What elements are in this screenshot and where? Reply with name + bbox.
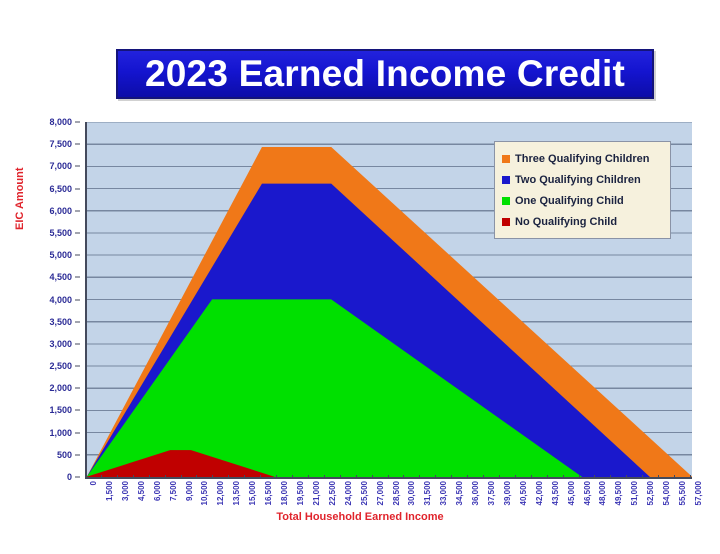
legend-swatch-no-child xyxy=(502,218,510,226)
x-tick-mark xyxy=(276,475,277,479)
x-tick-label: 9,000 xyxy=(185,481,194,501)
y-tick-mark xyxy=(75,299,80,300)
x-tick-mark xyxy=(388,475,389,479)
x-tick-mark xyxy=(133,475,134,479)
y-tick-label: 4,500 xyxy=(49,272,72,282)
x-tick-label: 10,500 xyxy=(200,481,209,505)
x-tick-mark xyxy=(674,475,675,479)
y-tick-label: 0 xyxy=(67,472,72,482)
x-tick-mark xyxy=(196,475,197,479)
x-tick-label: 34,500 xyxy=(455,481,464,505)
x-tick-mark xyxy=(451,475,452,479)
x-tick-mark xyxy=(563,475,564,479)
y-tick-mark xyxy=(75,432,80,433)
y-tick-mark xyxy=(75,477,80,478)
x-tick-label: 18,000 xyxy=(280,481,289,505)
x-tick-mark xyxy=(483,475,484,479)
x-tick-mark xyxy=(419,475,420,479)
x-tick-mark xyxy=(626,475,627,479)
legend-item[interactable]: Three Qualifying Children xyxy=(502,148,664,169)
y-tick-mark xyxy=(75,166,80,167)
y-tick-mark xyxy=(75,277,80,278)
legend-label: One Qualifying Child xyxy=(515,195,624,207)
x-tick-label: 12,000 xyxy=(216,481,225,505)
x-tick-mark xyxy=(435,475,436,479)
x-tick-mark xyxy=(579,475,580,479)
x-tick-mark xyxy=(85,475,86,479)
y-tick-mark xyxy=(75,454,80,455)
y-axis-ticks: 05001,0001,5002,0002,5003,0003,5004,0004… xyxy=(0,122,80,477)
x-tick-mark xyxy=(149,475,150,479)
y-tick-mark xyxy=(75,410,80,411)
x-tick-label: 36,000 xyxy=(471,481,480,505)
y-tick-label: 4,000 xyxy=(49,295,72,305)
x-tick-mark xyxy=(356,475,357,479)
y-tick-label: 2,500 xyxy=(49,361,72,371)
x-tick-label: 52,500 xyxy=(646,481,655,505)
legend-label: No Qualifying Child xyxy=(515,216,617,228)
x-tick-mark xyxy=(658,475,659,479)
y-tick-label: 2,000 xyxy=(49,383,72,393)
x-tick-label: 13,500 xyxy=(232,481,241,505)
x-tick-label: 16,500 xyxy=(264,481,273,505)
page-title: 2023 Earned Income Credit xyxy=(145,53,625,95)
x-tick-mark xyxy=(292,475,293,479)
x-tick-label: 7,500 xyxy=(169,481,178,501)
x-tick-label: 48,000 xyxy=(598,481,607,505)
x-tick-label: 24,000 xyxy=(344,481,353,505)
legend-label: Three Qualifying Children xyxy=(515,153,649,165)
chart-root: 2023 Earned Income Credit EIC Amount 050… xyxy=(0,0,720,554)
y-tick-label: 6,500 xyxy=(49,184,72,194)
chart-legend: Three Qualifying Children Two Qualifying… xyxy=(494,141,671,239)
x-tick-label: 51,000 xyxy=(630,481,639,505)
legend-item[interactable]: Two Qualifying Children xyxy=(502,169,664,190)
x-tick-mark xyxy=(610,475,611,479)
y-tick-mark xyxy=(75,122,80,123)
y-tick-label: 6,000 xyxy=(49,206,72,216)
y-tick-label: 3,000 xyxy=(49,339,72,349)
x-tick-label: 37,500 xyxy=(487,481,496,505)
y-tick-label: 5,000 xyxy=(49,250,72,260)
x-tick-label: 1,500 xyxy=(105,481,114,501)
x-tick-label: 4,500 xyxy=(137,481,146,501)
x-tick-label: 43,500 xyxy=(551,481,560,505)
legend-label: Two Qualifying Children xyxy=(515,174,641,186)
y-tick-label: 8,000 xyxy=(49,117,72,127)
x-tick-label: 42,000 xyxy=(535,481,544,505)
x-tick-mark xyxy=(594,475,595,479)
x-tick-mark xyxy=(531,475,532,479)
y-tick-label: 7,500 xyxy=(49,139,72,149)
x-tick-label: 39,000 xyxy=(503,481,512,505)
x-tick-mark xyxy=(101,475,102,479)
x-tick-label: 21,000 xyxy=(312,481,321,505)
y-tick-label: 3,500 xyxy=(49,317,72,327)
x-tick-mark xyxy=(467,475,468,479)
x-tick-label: 28,500 xyxy=(392,481,401,505)
x-tick-mark xyxy=(260,475,261,479)
y-tick-mark xyxy=(75,321,80,322)
x-tick-label: 27,000 xyxy=(376,481,385,505)
x-tick-mark xyxy=(117,475,118,479)
x-tick-mark xyxy=(212,475,213,479)
y-tick-mark xyxy=(75,210,80,211)
x-tick-label: 15,000 xyxy=(248,481,257,505)
x-tick-label: 54,000 xyxy=(662,481,671,505)
y-tick-label: 1,000 xyxy=(49,428,72,438)
legend-item[interactable]: No Qualifying Child xyxy=(502,211,664,232)
x-tick-label: 30,000 xyxy=(407,481,416,505)
x-tick-mark xyxy=(515,475,516,479)
y-tick-label: 1,500 xyxy=(49,405,72,415)
legend-swatch-three-children xyxy=(502,155,510,163)
y-tick-mark xyxy=(75,188,80,189)
x-tick-label: 40,500 xyxy=(519,481,528,505)
x-tick-label: 55,500 xyxy=(678,481,687,505)
x-tick-mark xyxy=(228,475,229,479)
y-tick-mark xyxy=(75,388,80,389)
y-tick-mark xyxy=(75,232,80,233)
x-tick-mark xyxy=(642,475,643,479)
y-tick-mark xyxy=(75,343,80,344)
x-tick-label: 19,500 xyxy=(296,481,305,505)
x-tick-mark xyxy=(499,475,500,479)
x-tick-label: 6,000 xyxy=(153,481,162,501)
x-tick-label: 49,500 xyxy=(614,481,623,505)
x-axis-title: Total Household Earned Income xyxy=(0,511,720,523)
x-tick-label: 25,500 xyxy=(360,481,369,505)
y-tick-label: 7,000 xyxy=(49,161,72,171)
legend-swatch-two-children xyxy=(502,176,510,184)
y-tick-label: 5,500 xyxy=(49,228,72,238)
x-tick-mark xyxy=(181,475,182,479)
x-tick-label: 3,000 xyxy=(121,481,130,501)
x-tick-mark xyxy=(340,475,341,479)
y-tick-mark xyxy=(75,366,80,367)
x-tick-mark xyxy=(308,475,309,479)
x-tick-label: 33,000 xyxy=(439,481,448,505)
x-tick-label: 46,500 xyxy=(583,481,592,505)
x-tick-mark xyxy=(165,475,166,479)
x-tick-mark xyxy=(403,475,404,479)
legend-swatch-one-child xyxy=(502,197,510,205)
x-tick-label: 22,500 xyxy=(328,481,337,505)
x-tick-mark xyxy=(690,475,691,479)
x-tick-label: 0 xyxy=(89,481,98,485)
x-tick-label: 45,000 xyxy=(567,481,576,505)
x-tick-label: 31,500 xyxy=(423,481,432,505)
legend-item[interactable]: One Qualifying Child xyxy=(502,190,664,211)
y-tick-label: 500 xyxy=(57,450,72,460)
y-tick-mark xyxy=(75,255,80,256)
x-tick-mark xyxy=(547,475,548,479)
x-tick-mark xyxy=(372,475,373,479)
x-tick-label: 57,000 xyxy=(694,481,703,505)
y-tick-mark xyxy=(75,144,80,145)
x-tick-mark xyxy=(324,475,325,479)
x-tick-mark xyxy=(244,475,245,479)
chart-title-box: 2023 Earned Income Credit xyxy=(116,49,654,99)
